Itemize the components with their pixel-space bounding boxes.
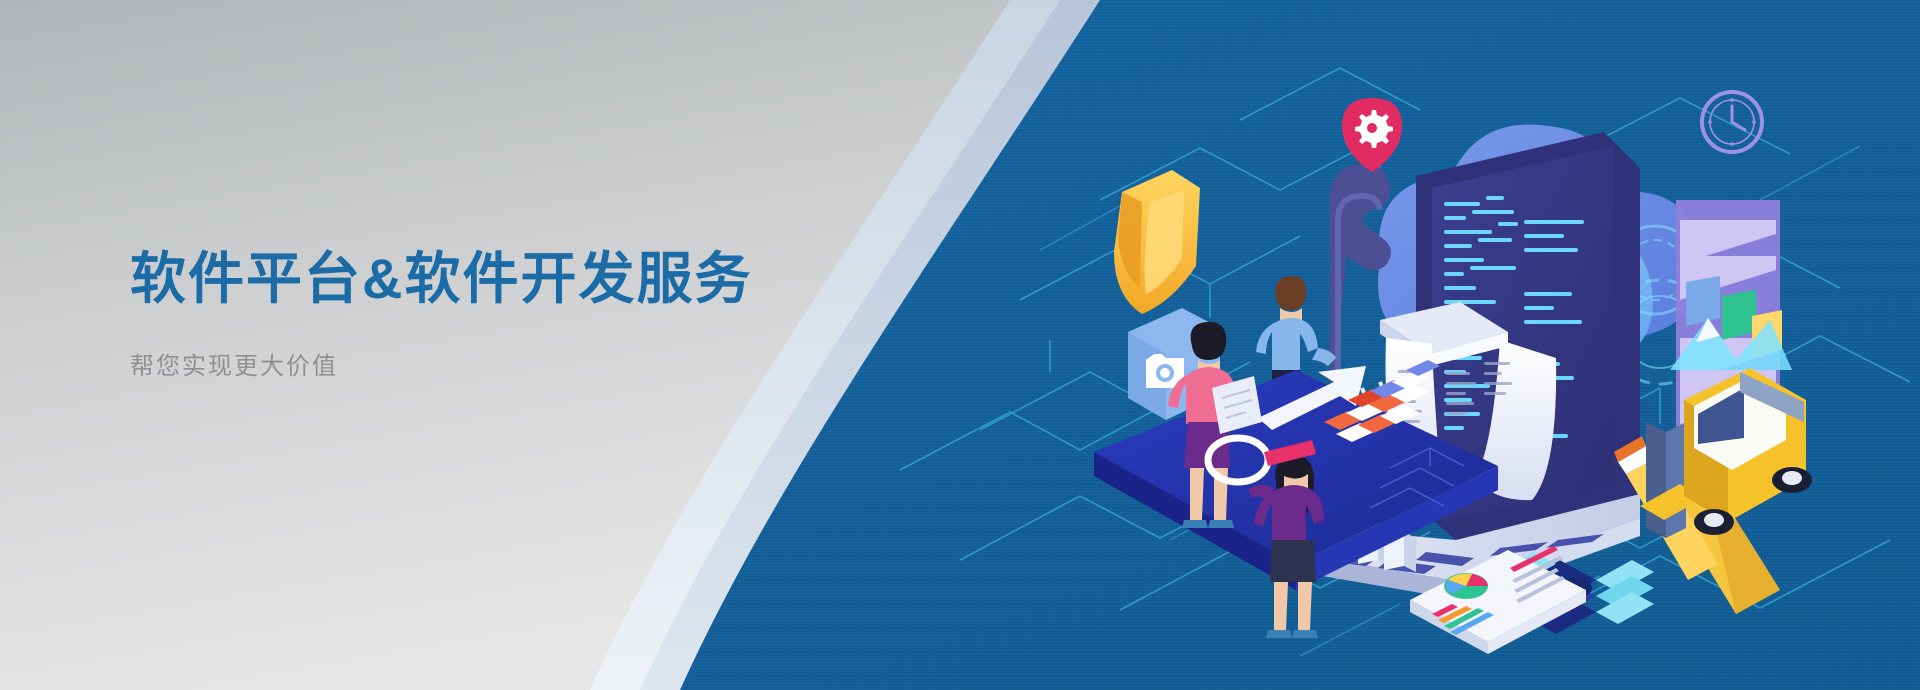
hero-banner: 软件平台&软件开发服务 帮您实现更大价值: [0, 0, 1920, 690]
page-subtitle: 帮您实现更大价值: [130, 346, 890, 381]
page-title: 软件平台&软件开发服务: [130, 246, 890, 312]
banner-copy: 软件平台&软件开发服务 帮您实现更大价值: [130, 246, 890, 381]
